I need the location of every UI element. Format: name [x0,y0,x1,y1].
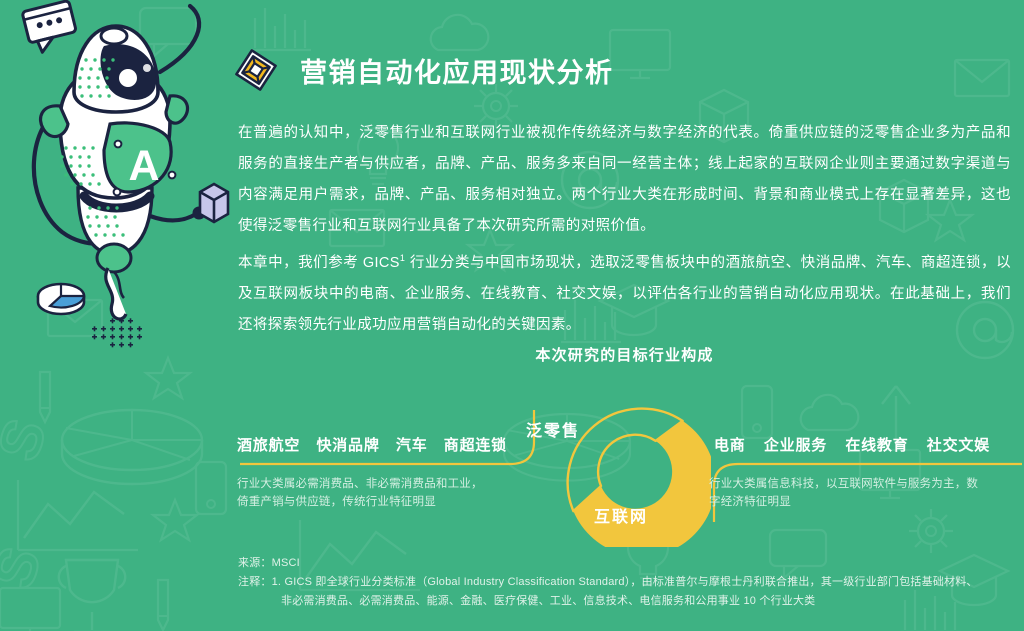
industry-term: 快消品牌 [316,434,379,455]
industry-composition-chart: 泛零售 互联网 酒旅航空 快消品牌 汽车 商超连锁 行业大类属必需消费品、非必需… [238,386,1024,546]
note-row: 注释： 1. GICS 即全球行业分类标准（Global Industry Cl… [238,573,1024,592]
intro-paragraph-2: 本章中，我们参考 GICS1 行业分类与中国市场现状，选取泛零售板块中的酒旅航空… [238,243,1011,341]
donut-slice-internet [573,421,711,547]
internet-sector-description: 行业大类属信息科技，以互联网软件与服务为主，数 字经济特征明显 [709,464,987,511]
industry-term: 汽车 [396,434,428,455]
industry-term: 社交文娱 [927,434,990,455]
retail-sector-group: 酒旅航空 快消品牌 汽车 商超连锁 行业大类属必需消费品、非必需消费品和工业， … [237,434,517,511]
description-line: 字经济特征明显 [709,493,987,511]
industry-term: 电商 [714,434,746,455]
internet-sector-group: 电商 企业服务 在线教育 社交文娱 行业大类属信息科技，以互联网软件与服务为主，… [709,434,989,511]
diamond-rhombus-logo-icon [232,46,280,94]
content-column: 营销自动化应用现状分析 在普遍的认知中，泛零售行业和互联网行业被视作传统经济与数… [238,0,1024,631]
footnotes: 来源： MSCI 注释： 1. GICS 即全球行业分类标准（Global In… [238,554,1024,611]
description-line: 倚重产销与供应链，传统行业特征明显 [237,493,515,511]
retail-sector-description: 行业大类属必需消费品、非必需消费品和工业， 倚重产销与供应链，传统行业特征明显 [237,464,515,511]
industry-term: 酒旅航空 [237,434,300,455]
source-row: 来源： MSCI [238,554,1024,573]
donut-label-retail: 泛零售 [526,417,580,441]
note-line-2: 非必需消费品、必需消费品、能源、金融、医疗保健、工业、信息技术、电信服务和公用事… [238,592,1024,611]
description-line: 行业大类属必需消费品、非必需消费品和工业， [237,475,515,493]
intro-paragraph-1: 在普遍的认知中，泛零售行业和互联网行业被视作传统经济与数字经济的代表。倚重供应链… [238,118,1011,242]
source-label: 来源： [238,554,272,573]
industry-term: 企业服务 [764,434,827,455]
description-line: 行业大类属信息科技，以互联网软件与服务为主，数 [709,475,987,493]
industry-term: 商超连锁 [444,434,507,455]
paragraph-2-text-before: 本章中，我们参考 GICS [238,255,400,271]
robot-badge-letter: A [128,142,159,190]
note-line-1: 1. GICS 即全球行业分类标准（Global Industry Classi… [272,573,1024,592]
retail-industry-terms: 酒旅航空 快消品牌 汽车 商超连锁 [237,434,507,464]
dot-pattern-decoration [92,318,148,350]
industry-term: 在线教育 [845,434,908,455]
source-value: MSCI [272,554,1024,573]
note-label: 注释： [238,573,272,592]
page-title: 营销自动化应用现状分析 [300,51,614,90]
page-header: 营销自动化应用现状分析 [232,46,614,94]
internet-industry-terms: 电商 企业服务 在线教育 社交文娱 [714,434,990,464]
chart-title: 本次研究的目标行业构成 [238,344,1011,365]
robot-mascot-icon: A [0,0,232,330]
donut-label-internet: 互联网 [594,503,648,527]
